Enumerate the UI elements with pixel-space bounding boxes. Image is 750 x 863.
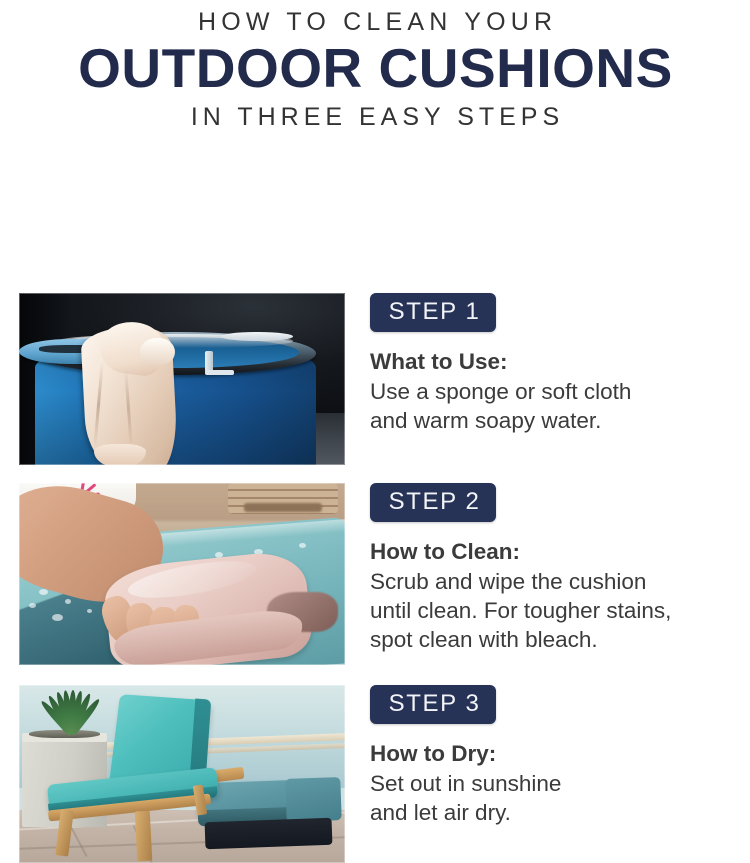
page-title: OUTDOOR CUSHIONS <box>0 38 750 98</box>
wiping-cushion-illustration <box>19 483 345 665</box>
step-2-body-line-1: Scrub and wipe the cushion <box>370 567 750 596</box>
step-row-2: STEP 2 How to Clean: Scrub and wipe the … <box>0 483 750 665</box>
step-1-body-line-1: Use a sponge or soft cloth <box>370 377 750 406</box>
step-3-body: Set out in sunshine and let air dry. <box>370 769 750 827</box>
step-3-badge: STEP 3 <box>370 685 496 724</box>
agave-plant <box>26 685 111 735</box>
step-1-heading: What to Use: <box>370 349 750 375</box>
step-row-3: STEP 3 How to Dry: Set out in sunshine a… <box>0 685 750 863</box>
step-2-body: Scrub and wipe the cushion until clean. … <box>370 567 750 654</box>
step-3-copy: STEP 3 How to Dry: Set out in sunshine a… <box>345 685 750 827</box>
step-1-body-line-2: and warm soapy water. <box>370 406 750 435</box>
step-2-badge: STEP 2 <box>370 483 496 522</box>
step-3-image <box>19 685 345 863</box>
header-kicker: HOW TO CLEAN YOUR <box>0 7 750 37</box>
step-2-body-line-2: until clean. For tougher stains, <box>370 596 750 625</box>
step-2-image <box>19 483 345 665</box>
step-2-body-line-3: spot clean with bleach. <box>370 625 750 654</box>
step-3-body-line-1: Set out in sunshine <box>370 769 750 798</box>
header-subline: IN THREE EASY STEPS <box>0 101 750 133</box>
step-1-image <box>19 293 345 465</box>
infographic-header: HOW TO CLEAN YOUR OUTDOOR CUSHIONS IN TH… <box>0 0 750 133</box>
step-1-body: Use a sponge or soft cloth and warm soap… <box>370 377 750 435</box>
step-2-copy: STEP 2 How to Clean: Scrub and wipe the … <box>345 483 750 654</box>
step-3-body-line-2: and let air dry. <box>370 798 750 827</box>
step-row-1: STEP 1 What to Use: Use a sponge or soft… <box>0 293 750 465</box>
bucket-and-cloth-illustration <box>19 293 345 465</box>
step-1-badge: STEP 1 <box>370 293 496 332</box>
chaise-lounge-illustration <box>19 685 345 863</box>
step-2-heading: How to Clean: <box>370 539 750 565</box>
step-3-heading: How to Dry: <box>370 741 750 767</box>
step-1-copy: STEP 1 What to Use: Use a sponge or soft… <box>345 293 750 435</box>
